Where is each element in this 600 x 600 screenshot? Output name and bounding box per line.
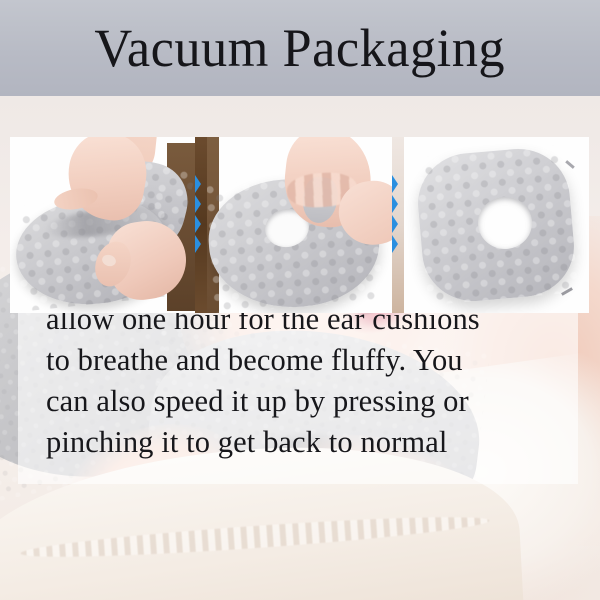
chevron-right-icon bbox=[195, 235, 207, 253]
cushion-hole bbox=[478, 197, 532, 249]
header-banner: Vacuum Packaging bbox=[0, 0, 600, 96]
step-photo-1 bbox=[10, 137, 195, 313]
chevron-right-icon bbox=[195, 195, 207, 213]
page-title: Vacuum Packaging bbox=[95, 21, 506, 75]
chevron-right-icon bbox=[195, 175, 207, 193]
chevron-right-icon bbox=[392, 195, 404, 213]
instruction-line-4: can also speed it up by pressing or bbox=[46, 381, 576, 422]
step-photo-3 bbox=[404, 137, 589, 313]
photo-canvas bbox=[404, 137, 589, 313]
flow-arrow-2 bbox=[392, 137, 404, 313]
chevron-right-icon bbox=[392, 235, 404, 253]
instruction-line-3: to breathe and become fluffy. You bbox=[46, 340, 576, 381]
flow-arrow-1 bbox=[195, 137, 207, 313]
step-photo-strip bbox=[0, 137, 600, 313]
instruction-line-5: pinching it to get back to normal bbox=[46, 422, 576, 463]
photo-canvas bbox=[10, 137, 195, 313]
chevron-right-icon bbox=[195, 215, 207, 233]
product-infographic: Vacuum Packaging After opening the packa… bbox=[0, 0, 600, 600]
photo-canvas bbox=[207, 137, 392, 313]
chevron-right-icon bbox=[392, 215, 404, 233]
chevron-right-icon bbox=[392, 175, 404, 193]
step-photo-2 bbox=[207, 137, 392, 313]
